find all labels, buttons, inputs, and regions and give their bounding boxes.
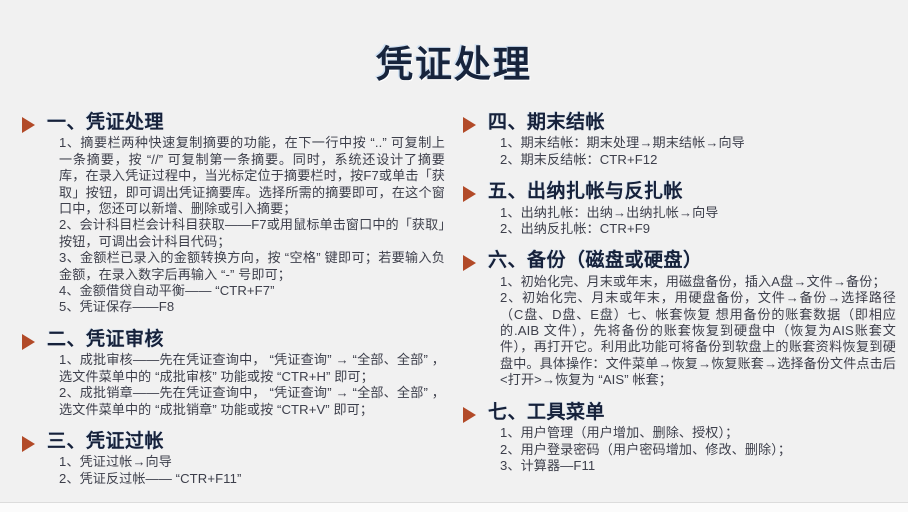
section-qi: 七、工具菜单 1、用户管理（用户增加、删除、授权）； 2、用户登录密码（用户密码… xyxy=(463,402,896,475)
section-body: 1、初始化完、月末或年末，用磁盘备份，插入A盘→文件→备份； 2、初始化完、月末… xyxy=(500,274,896,389)
body-line: 5、凭证保存——F8 xyxy=(59,299,445,315)
body-line: 1、出纳扎帐：出纳→出纳扎帐→向导 xyxy=(500,205,896,221)
triangle-right-icon xyxy=(463,255,476,271)
page-title: 凭证处理 xyxy=(0,34,908,88)
body-line: 2、成批销章——先在凭证查询中， “凭证查询” → “全部、全部” ，选文件菜单… xyxy=(59,385,445,418)
body-line: 2、凭证反过帐—— “CTR+F11” xyxy=(59,471,445,487)
body-line: 4、金额借贷自动平衡—— “CTR+F7” xyxy=(59,283,445,299)
left-column: 一、凭证处理 1、摘要栏两种快速复制摘要的功能，在下一行中按 “..” 可复制上… xyxy=(0,112,455,496)
body-line: 1、用户管理（用户增加、删除、授权）； xyxy=(500,425,896,441)
section-san: 三、凭证过帐 1、凭证过帐→向导 2、凭证反过帐—— “CTR+F11” xyxy=(22,431,445,487)
section-body: 1、用户管理（用户增加、删除、授权）； 2、用户登录密码（用户密码增加、修改、删… xyxy=(500,425,896,474)
body-line: 1、成批审核——先在凭证查询中， “凭证查询” → “全部、全部” ，选文件菜单… xyxy=(59,352,445,385)
triangle-right-icon xyxy=(463,186,476,202)
triangle-right-icon xyxy=(22,117,35,133)
section-body: 1、成批审核——先在凭证查询中， “凭证查询” → “全部、全部” ，选文件菜单… xyxy=(59,352,445,418)
body-line: 1、摘要栏两种快速复制摘要的功能，在下一行中按 “..” 可复制上一条摘要，按 … xyxy=(59,135,445,217)
body-line: 2、期末反结帐：CTR+F12 xyxy=(500,152,896,168)
section-header: 七、工具菜单 xyxy=(463,402,896,424)
section-heading: 四、期末结帐 xyxy=(488,112,605,134)
section-body: 1、凭证过帐→向导 2、凭证反过帐—— “CTR+F11” xyxy=(59,454,445,487)
section-body: 1、出纳扎帐：出纳→出纳扎帐→向导 2、出纳反扎帐：CTR+F9 xyxy=(500,205,896,238)
section-header: 三、凭证过帐 xyxy=(22,431,445,453)
content-columns: 一、凭证处理 1、摘要栏两种快速复制摘要的功能，在下一行中按 “..” 可复制上… xyxy=(0,112,908,496)
section-heading: 一、凭证处理 xyxy=(47,112,164,134)
section-si: 四、期末结帐 1、期末结帐：期末处理→期末结帐→向导 2、期末反结帐：CTR+F… xyxy=(463,112,896,168)
section-header: 一、凭证处理 xyxy=(22,112,445,134)
section-header: 二、凭证审核 xyxy=(22,329,445,351)
section-wu: 五、出纳扎帐与反扎帐 1、出纳扎帐：出纳→出纳扎帐→向导 2、出纳反扎帐：CTR… xyxy=(463,181,896,237)
body-line: 2、出纳反扎帐：CTR+F9 xyxy=(500,221,896,237)
body-line: 1、初始化完、月末或年末，用磁盘备份，插入A盘→文件→备份； xyxy=(500,274,896,290)
section-heading: 二、凭证审核 xyxy=(47,329,164,351)
section-heading: 五、出纳扎帐与反扎帐 xyxy=(488,181,683,203)
section-header: 五、出纳扎帐与反扎帐 xyxy=(463,181,896,203)
body-line: 1、凭证过帐→向导 xyxy=(59,454,445,470)
triangle-right-icon xyxy=(22,334,35,350)
section-heading: 三、凭证过帐 xyxy=(47,431,164,453)
body-line: 3、计算器—F11 xyxy=(500,458,896,474)
triangle-right-icon xyxy=(463,117,476,133)
section-body: 1、期末结帐：期末处理→期末结帐→向导 2、期末反结帐：CTR+F12 xyxy=(500,135,896,168)
section-body: 1、摘要栏两种快速复制摘要的功能，在下一行中按 “..” 可复制上一条摘要，按 … xyxy=(59,135,445,315)
section-heading: 七、工具菜单 xyxy=(488,402,605,424)
body-line: 3、金额栏已录入的金额转换方向，按 “空格” 键即可；若要输入负金额，在录入数字… xyxy=(59,250,445,283)
section-yi: 一、凭证处理 1、摘要栏两种快速复制摘要的功能，在下一行中按 “..” 可复制上… xyxy=(22,112,445,316)
section-header: 四、期末结帐 xyxy=(463,112,896,134)
body-line: 2、初始化完、月末或年末，用硬盘备份，文件→备份→选择路径（C盘、D盘、E盘）七… xyxy=(500,290,896,388)
body-line: 1、期末结帐：期末处理→期末结帐→向导 xyxy=(500,135,896,151)
right-column: 四、期末结帐 1、期末结帐：期末处理→期末结帐→向导 2、期末反结帐：CTR+F… xyxy=(455,112,908,483)
section-liu: 六、备份（磁盘或硬盘） 1、初始化完、月末或年末，用磁盘备份，插入A盘→文件→备… xyxy=(463,250,896,388)
section-heading: 六、备份（磁盘或硬盘） xyxy=(488,250,703,272)
body-line: 2、用户登录密码（用户密码增加、修改、删除）； xyxy=(500,442,896,458)
section-er: 二、凭证审核 1、成批审核——先在凭证查询中， “凭证查询” → “全部、全部”… xyxy=(22,329,445,418)
section-header: 六、备份（磁盘或硬盘） xyxy=(463,250,896,272)
slide-bottom-strip xyxy=(0,502,908,512)
triangle-right-icon xyxy=(22,436,35,452)
slide-root: 凭证处理 一、凭证处理 1、摘要栏两种快速复制摘要的功能，在下一行中按 “..”… xyxy=(0,0,908,512)
body-line: 2、会计科目栏会计科目获取——F7或用鼠标单击窗口中的「获取」按钮，可调出会计科… xyxy=(59,217,445,250)
triangle-right-icon xyxy=(463,407,476,423)
